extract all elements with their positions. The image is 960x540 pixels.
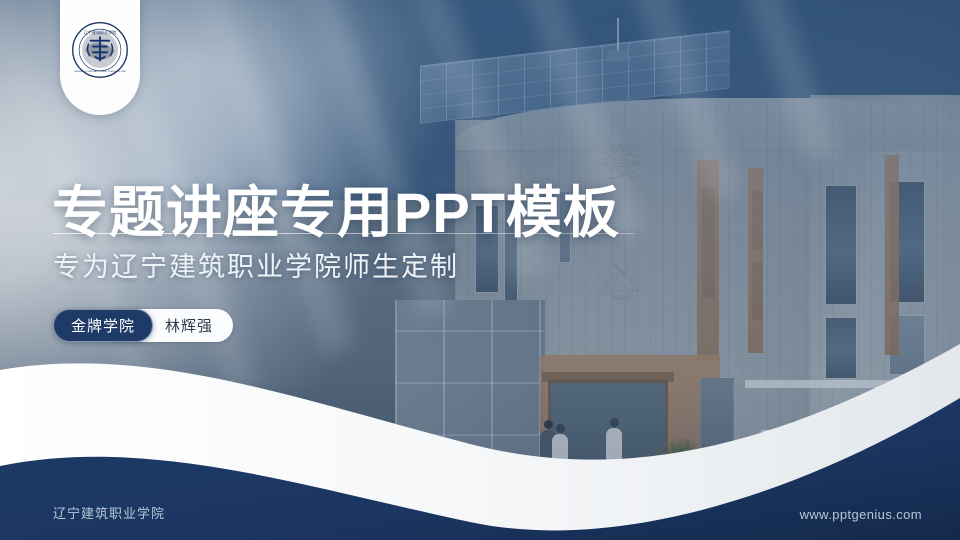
badge-group: 金牌学院林辉强 (53, 309, 233, 342)
presentation-title-slide: 餐 心 (0, 0, 960, 540)
page-subtitle: 专为辽宁建筑职业学院师生定制 (53, 245, 459, 284)
footer-institution: 辽宁建筑职业学院 (53, 503, 165, 522)
page-title: 专题讲座专用PPT模板 (52, 168, 620, 249)
crest-arc-text-bottom: LIAONING VOCATIONAL COLLEGE OF ARCHITECT… (74, 70, 126, 73)
footer-website[interactable]: www.pptgenius.com (800, 507, 922, 522)
award-badge: 金牌学院 (53, 309, 153, 342)
title-divider (53, 233, 635, 234)
crest-arc-text-top: 辽宁建筑职业学院 (84, 29, 116, 35)
university-crest-icon: 辽宁建筑职业学院 LIAONING VOCATIONAL COLLEGE OF … (71, 21, 129, 79)
logo-badge: 辽宁建筑职业学院 LIAONING VOCATIONAL COLLEGE OF … (60, 0, 140, 115)
